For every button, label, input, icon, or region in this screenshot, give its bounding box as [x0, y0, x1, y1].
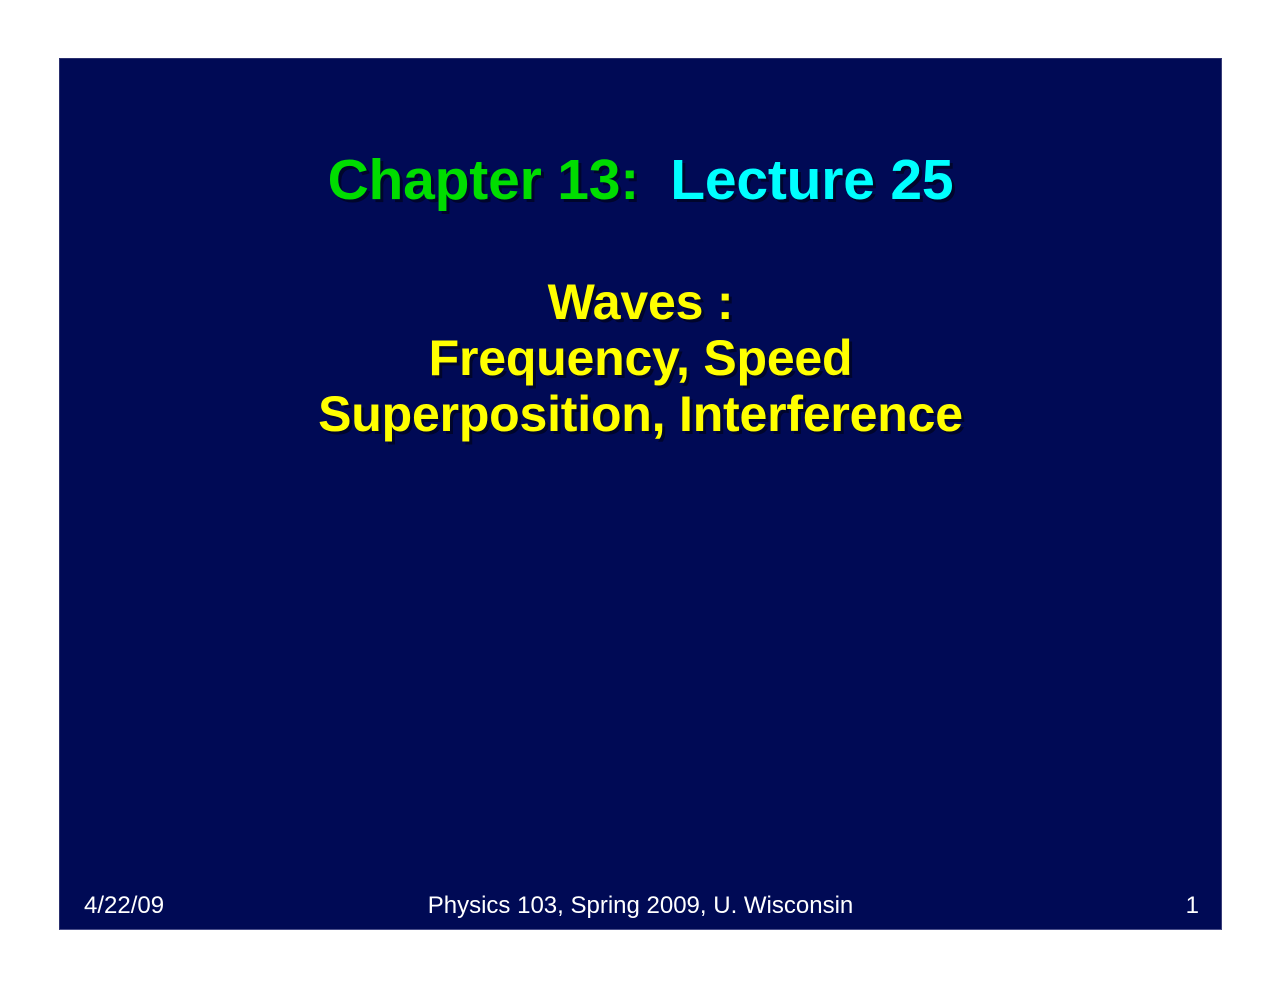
slide-subtitle-block: Waves : Frequency, Speed Superposition, …	[60, 274, 1221, 442]
slide-footer: 4/22/09 Physics 103, Spring 2009, U. Wis…	[60, 889, 1221, 923]
footer-course-info: Physics 103, Spring 2009, U. Wisconsin	[60, 892, 1221, 920]
subtitle-line-1: Waves :	[60, 274, 1221, 330]
title-lecture-part: Lecture 25	[670, 148, 953, 212]
slide-stage: Chapter 13: Lecture 25 Waves : Frequency…	[0, 0, 1280, 989]
subtitle-line-2: Frequency, Speed	[60, 330, 1221, 386]
presentation-slide: Chapter 13: Lecture 25 Waves : Frequency…	[59, 58, 1222, 930]
title-chapter-part: Chapter 13:	[328, 148, 639, 212]
slide-title: Chapter 13: Lecture 25	[60, 151, 1221, 209]
subtitle-line-3: Superposition, Interference	[60, 386, 1221, 442]
slide-title-block: Chapter 13: Lecture 25	[60, 151, 1221, 209]
footer-page-number: 1	[1186, 892, 1199, 920]
title-separator	[639, 148, 670, 212]
